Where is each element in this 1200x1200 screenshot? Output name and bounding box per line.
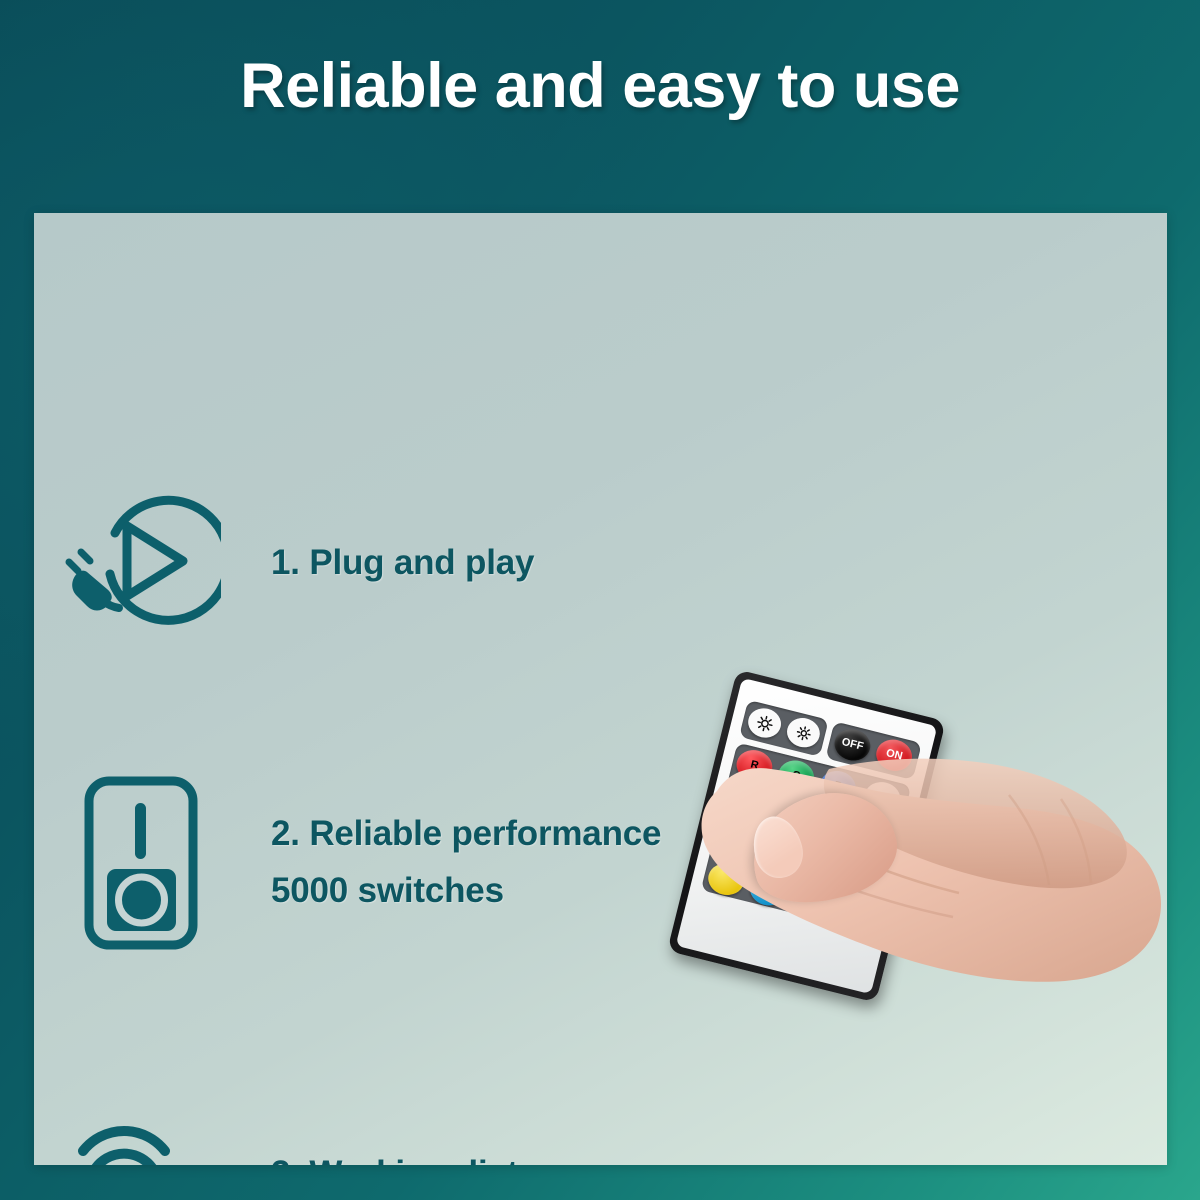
feature-line-1: 3. Working distance — [271, 1146, 616, 1165]
feature-line-1: 2. Reliable performance — [271, 806, 661, 863]
feature-text-reliable-performance: 2. Reliable performance 5000 switches — [271, 806, 661, 919]
remote-signal-icon — [56, 1103, 226, 1165]
plug-and-play-icon — [56, 488, 226, 638]
feature-row-working-distance: 3. Working distance 4m and 45° coverage — [56, 1088, 616, 1165]
feature-line-1: 1. Plug and play — [271, 535, 534, 592]
feature-line-2: 5000 switches — [271, 863, 661, 920]
feature-text-plug-and-play: 1. Plug and play — [271, 535, 534, 592]
promo-graphic: Reliable and easy to use — [0, 0, 1200, 1200]
content-panel: 1. Plug and play 2. Reliable performance… — [34, 213, 1167, 1165]
feature-row-plug-and-play: 1. Plug and play — [56, 468, 534, 658]
feature-row-reliable-performance: 2. Reliable performance 5000 switches — [56, 748, 661, 978]
rocker-switch-icon — [56, 773, 226, 953]
hand-illustration — [679, 673, 1167, 1143]
page-title: Reliable and easy to use — [0, 55, 1200, 118]
hand-holding-remote-photo: OFF ON R — [659, 663, 1167, 1165]
feature-text-working-distance: 3. Working distance 4m and 45° coverage — [271, 1146, 616, 1165]
